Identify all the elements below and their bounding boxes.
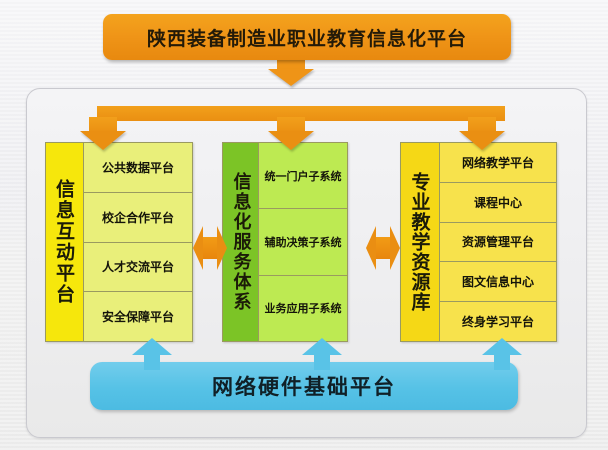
list-item[interactable]: 业务应用子系统 bbox=[259, 276, 347, 341]
column-items-left: 公共数据平台 校企合作平台 人才交流平台 安全保障平台 bbox=[84, 143, 192, 341]
column-informatization-service-system: 信息化服务体系 统一门户子系统 辅助决策子系统 业务应用子系统 bbox=[222, 142, 348, 342]
arrow-head-right bbox=[217, 226, 227, 270]
list-item[interactable]: 校企合作平台 bbox=[84, 193, 192, 243]
distribution-down-arrow-middle-icon bbox=[268, 117, 314, 151]
distribution-down-arrow-left-icon bbox=[80, 117, 126, 151]
arrow-stem bbox=[314, 354, 330, 370]
arrow-head bbox=[132, 338, 172, 355]
arrow-head bbox=[302, 338, 342, 355]
column-label-left: 信息互动平台 bbox=[46, 143, 84, 341]
double-arrow-left-middle-icon bbox=[193, 226, 227, 270]
arrow-head-left bbox=[366, 226, 376, 270]
column-items-right: 网络教学平台 课程中心 资源管理平台 图文信息中心 终身学习平台 bbox=[440, 143, 556, 341]
diagram-title-banner: 陕西装备制造业职业教育信息化平台 bbox=[103, 14, 511, 60]
base-platform-label: 网络硬件基础平台 bbox=[212, 371, 396, 401]
arrow-head bbox=[268, 69, 314, 86]
arrow-stem bbox=[144, 354, 160, 370]
page-title: 陕西装备制造业职业教育信息化平台 bbox=[147, 24, 467, 51]
list-item[interactable]: 辅助决策子系统 bbox=[259, 209, 347, 275]
list-item[interactable]: 终身学习平台 bbox=[440, 302, 556, 341]
list-item[interactable]: 人才交流平台 bbox=[84, 243, 192, 293]
distribution-down-arrow-right-icon bbox=[459, 117, 505, 151]
column-items-middle: 统一门户子系统 辅助决策子系统 业务应用子系统 bbox=[259, 143, 347, 341]
arrow-stem bbox=[494, 354, 510, 370]
base-up-arrow-right-icon bbox=[482, 338, 522, 368]
arrow-head bbox=[482, 338, 522, 355]
column-professional-teaching-resource-library: 专业教学资源库 网络教学平台 课程中心 资源管理平台 图文信息中心 终身学习平台 bbox=[400, 142, 557, 342]
arrow-head-right bbox=[390, 226, 400, 270]
list-item[interactable]: 资源管理平台 bbox=[440, 223, 556, 263]
column-information-interaction-platform: 信息互动平台 公共数据平台 校企合作平台 人才交流平台 安全保障平台 bbox=[45, 142, 193, 342]
base-up-arrow-left-icon bbox=[132, 338, 172, 368]
column-label-middle: 信息化服务体系 bbox=[223, 143, 259, 341]
list-item[interactable]: 安全保障平台 bbox=[84, 292, 192, 341]
diagram-canvas: 陕西装备制造业职业教育信息化平台 信息互动平台 公共数据平台 校企合作平台 人才… bbox=[0, 0, 608, 450]
arrow-head bbox=[459, 131, 505, 150]
list-item[interactable]: 统一门户子系统 bbox=[259, 143, 347, 209]
base-up-arrow-middle-icon bbox=[302, 338, 342, 368]
arrow-head-left bbox=[193, 226, 203, 270]
list-item[interactable]: 课程中心 bbox=[440, 183, 556, 223]
arrow-head bbox=[80, 131, 126, 150]
double-arrow-middle-right-icon bbox=[366, 226, 400, 270]
list-item[interactable]: 图文信息中心 bbox=[440, 262, 556, 302]
column-label-right: 专业教学资源库 bbox=[401, 143, 440, 341]
arrow-head bbox=[268, 131, 314, 150]
